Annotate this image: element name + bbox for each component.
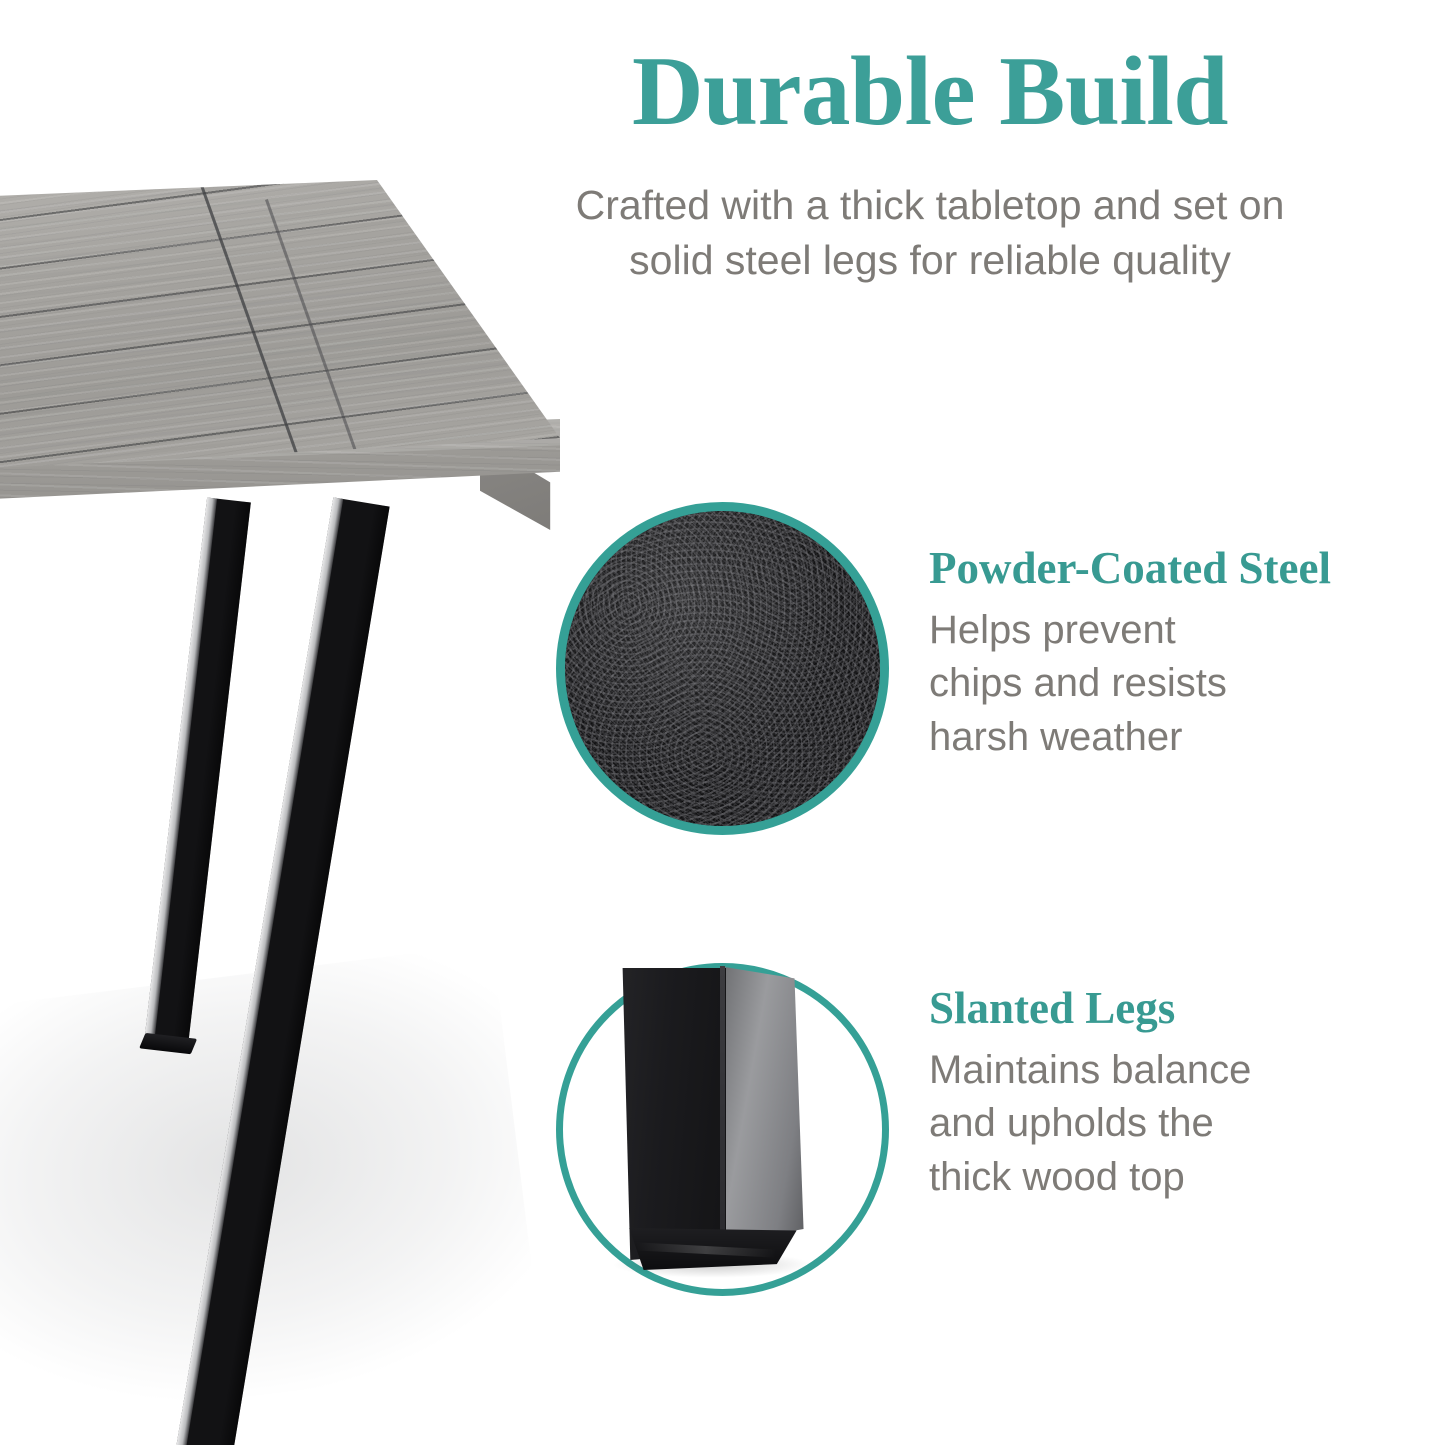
feature-body-line: and upholds the [929,1097,1429,1150]
infographic-canvas: Durable Build Crafted with a thick table… [0,0,1445,1445]
feature-body-slanted-legs: Maintains balance and upholds the thick … [929,1044,1429,1204]
page-subtitle: Crafted with a thick tabletop and set on… [470,178,1390,287]
feature-body-powder-coated-steel: Helps prevent chips and resists harsh we… [929,604,1429,764]
feature-body-line: harsh weather [929,711,1429,764]
leg-front-face [616,968,726,1260]
feature-image-slanted-legs [616,960,808,1265]
product-photo-table [0,180,600,1440]
page-title: Durable Build [470,42,1390,141]
leg-side-face [724,964,806,1252]
table-leg-back [145,497,251,1043]
powder-coat-sheen [565,511,880,826]
feature-image-powder-coated-steel [556,502,889,835]
feature-title-slanted-legs: Slanted Legs [929,985,1429,1032]
feature-title-powder-coated-steel: Powder-Coated Steel [929,545,1429,592]
feature-text-powder-coated-steel: Powder-Coated Steel Helps prevent chips … [929,545,1429,764]
feature-text-slanted-legs: Slanted Legs Maintains balance and uphol… [929,985,1429,1204]
frame-groove [265,199,368,483]
subtitle-line-2: solid steel legs for reliable quality [470,233,1390,288]
frame-groove [186,145,299,457]
feature-body-line: Maintains balance [929,1044,1429,1097]
feature-body-line: Helps prevent [929,604,1429,657]
feature-body-line: chips and resists [929,657,1429,710]
subtitle-line-1: Crafted with a thick tabletop and set on [470,178,1390,233]
feature-body-line: thick wood top [929,1151,1429,1204]
leg-corner-edge [720,966,725,1256]
